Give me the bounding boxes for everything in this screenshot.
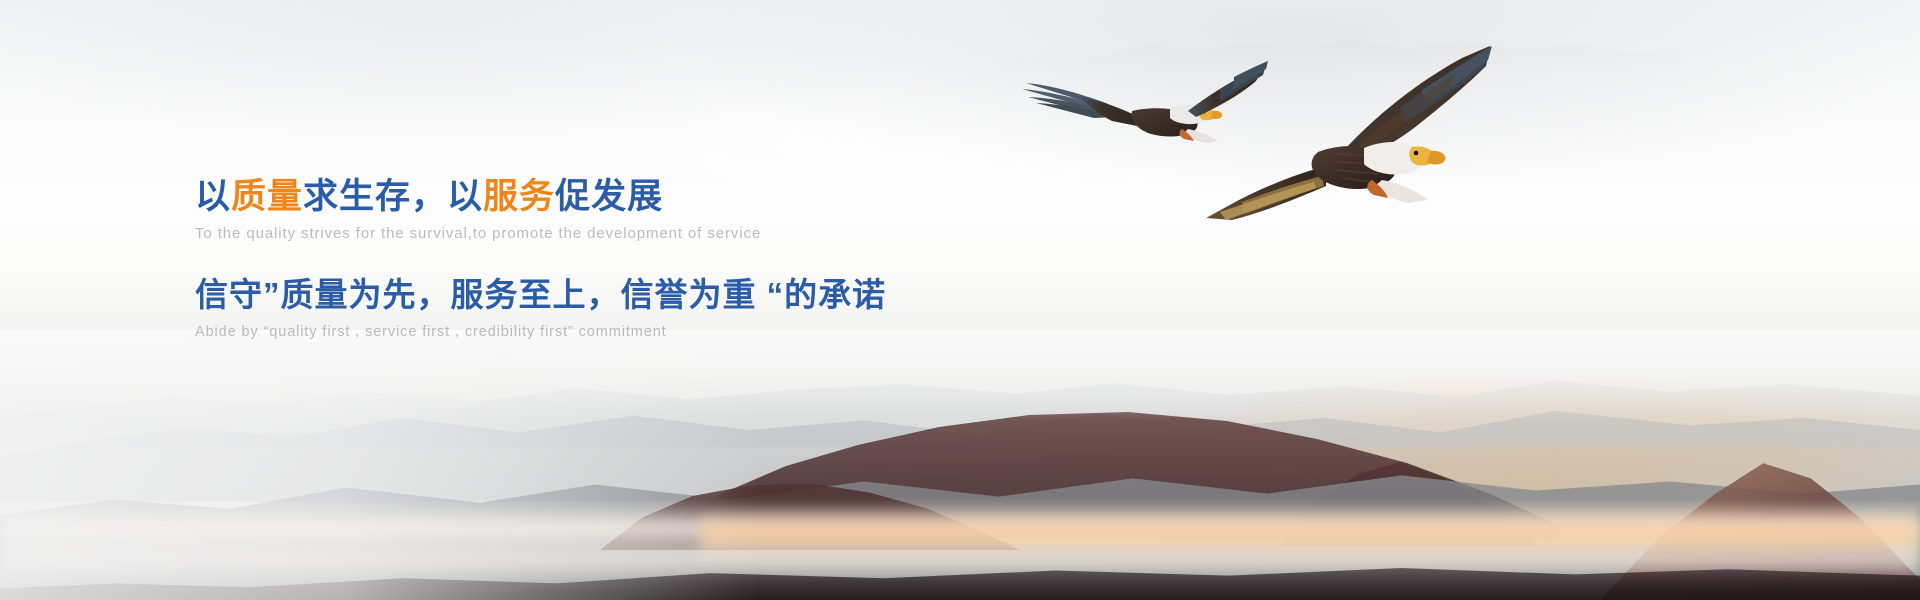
slogan-1-seg-2: 求生存，以 xyxy=(303,177,483,216)
sky-landscape-blend xyxy=(0,330,1920,420)
slogan-1-seg-0: 以 xyxy=(195,177,231,216)
hero-banner: 以质量求生存，以服务促发展 To the quality strives for… xyxy=(0,0,1920,600)
bald-eagle-lower xyxy=(1150,40,1500,255)
slogan-1-seg-4: 促发展 xyxy=(555,177,663,216)
mountain-landscape xyxy=(0,330,1920,600)
slogan-2-headline: 信守”质量为先，服务至上，信誉为重 “的承诺 xyxy=(195,276,1195,315)
slogan-2-block: 信守”质量为先，服务至上，信誉为重 “的承诺 Abide by “quality… xyxy=(195,276,1195,344)
slogan-1-headline: 以质量求生存，以服务促发展 xyxy=(195,176,1195,217)
slogan-2-subtitle: Abide by “quality first , service first … xyxy=(195,322,1195,344)
slogan-1-seg-3-accent: 服务 xyxy=(483,177,555,216)
slogan-1-seg-1-accent: 质量 xyxy=(231,177,303,216)
slogan-block: 以质量求生存，以服务促发展 To the quality strives for… xyxy=(195,176,1195,343)
slogan-1-subtitle: To the quality strives for the survival,… xyxy=(195,223,1195,246)
